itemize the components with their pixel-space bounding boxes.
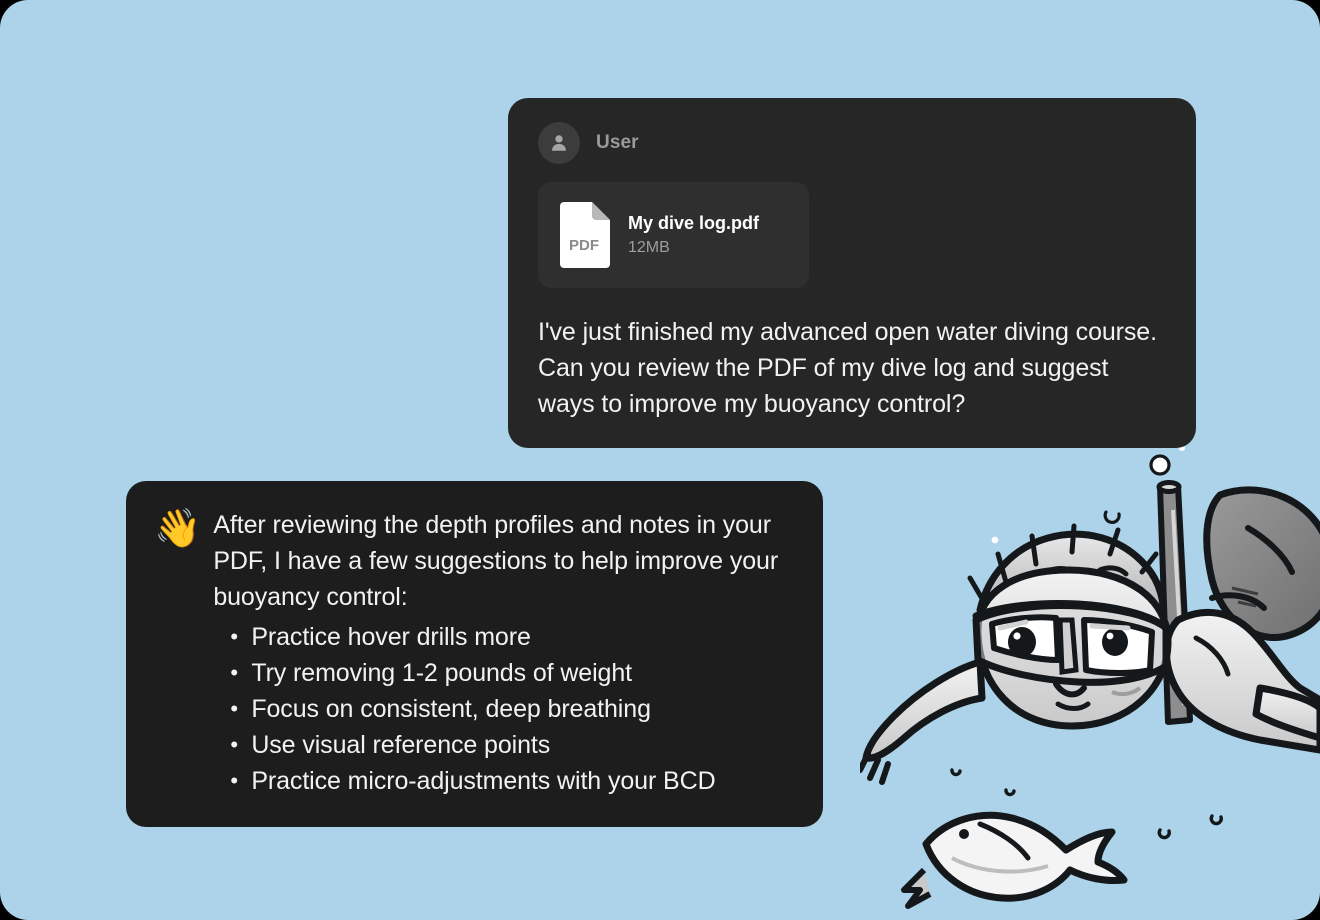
fish <box>904 815 1124 906</box>
fish-eye <box>959 829 969 839</box>
attachment-file-size: 12MB <box>628 239 759 257</box>
torso <box>1167 595 1320 750</box>
attachment-card[interactable]: PDF My dive log.pdf 12MB <box>538 182 809 288</box>
wetsuit-arm <box>1207 490 1320 638</box>
page-root: User PDF My dive log.pdf 12MB I've just … <box>0 0 1320 920</box>
left-arm <box>860 662 982 782</box>
pdf-file-icon: PDF <box>556 202 610 268</box>
assistant-body: After reviewing the depth profiles and n… <box>213 507 795 799</box>
user-message-bubble: User PDF My dive log.pdf 12MB I've just … <box>508 98 1196 448</box>
list-item: Practice hover drills more <box>213 619 795 655</box>
waving-hand-icon: 👋 <box>154 509 201 549</box>
list-item: Practice micro-adjustments with your BCD <box>213 763 795 799</box>
snorkeler-underwater-illustration <box>860 420 1320 920</box>
user-name-label: User <box>596 132 639 154</box>
list-item: Focus on consistent, deep breathing <box>213 691 795 727</box>
attachment-file-name: My dive log.pdf <box>628 213 759 234</box>
assistant-message-bubble: 👋 After reviewing the depth profiles and… <box>126 481 823 827</box>
svg-text:PDF: PDF <box>569 237 599 254</box>
user-message-text: I've just finished my advanced open wate… <box>538 314 1170 422</box>
attachment-text: My dive log.pdf 12MB <box>628 213 759 257</box>
list-item: Try removing 1-2 pounds of weight <box>213 655 795 691</box>
snorkel-tube <box>1159 483 1190 723</box>
right-arm <box>1256 688 1320 738</box>
snorkeler-head <box>976 570 1168 726</box>
air-bubbles <box>977 445 1185 920</box>
small-bubbles <box>952 770 1221 920</box>
user-header: User <box>538 122 1170 164</box>
assistant-content: 👋 After reviewing the depth profiles and… <box>154 507 795 799</box>
list-item: Use visual reference points <box>213 727 795 763</box>
left-eye <box>1008 627 1036 657</box>
assistant-intro-text: After reviewing the depth profiles and n… <box>213 507 795 615</box>
suggestion-list: Practice hover drills more Try removing … <box>213 619 795 799</box>
person-icon <box>538 122 580 164</box>
right-eye <box>1102 628 1128 656</box>
hair <box>970 526 1163 628</box>
